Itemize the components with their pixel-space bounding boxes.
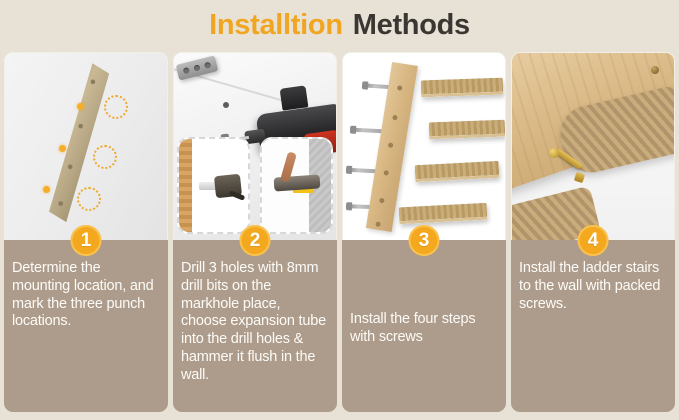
- rope-step-icon-1: [421, 78, 504, 98]
- page-title: Installtion Methods: [0, 0, 679, 50]
- punch-dot-3-icon: [43, 186, 50, 193]
- step-2-photo: [173, 52, 337, 240]
- step-number-badge-4: 4: [578, 225, 609, 256]
- drill-handle-icon: [279, 85, 308, 110]
- page-title-plain: Methods: [353, 9, 470, 42]
- step-2-caption: Drill 3 holes with 8mm drill bits on the…: [173, 240, 337, 412]
- step-number-badge-1: 1: [71, 225, 102, 256]
- anchor-insert-diagram: [177, 137, 250, 234]
- step-number-badge-3: 3: [409, 225, 440, 256]
- drill-mark-icon: [223, 102, 229, 108]
- step-panel-4: 4 Install the ladder stairs to the wall …: [511, 52, 675, 412]
- step-3-caption: Install the four steps with screws: [342, 240, 506, 412]
- punch-dot-1-icon: [77, 103, 84, 110]
- step-1-photo: [4, 52, 168, 240]
- step-panel-1: 1 Determine the mounting location, and m…: [4, 52, 168, 412]
- step-4-photo: [511, 52, 675, 240]
- mark-ring-2-icon: [93, 145, 117, 169]
- step-3-photo: [342, 52, 506, 240]
- step-4-caption: Install the ladder stairs to the wall wi…: [511, 240, 675, 412]
- step-panel-2: 2 Drill 3 holes with 8mm drill bits on t…: [173, 52, 337, 412]
- mark-ring-1-icon: [104, 95, 128, 119]
- punch-dot-2-icon: [59, 145, 66, 152]
- step-panel-3: 3 Install the four steps with screws: [342, 52, 506, 412]
- rope-step-icon-2: [429, 120, 506, 140]
- step-number-badge-2: 2: [240, 225, 271, 256]
- step-1-caption: Determine the mounting location, and mar…: [4, 240, 168, 412]
- hammer-flush-diagram: [260, 137, 333, 234]
- mark-ring-3-icon: [77, 187, 101, 211]
- steps-container: 1 Determine the mounting location, and m…: [4, 52, 675, 412]
- page-title-highlight: Installtion: [209, 9, 343, 42]
